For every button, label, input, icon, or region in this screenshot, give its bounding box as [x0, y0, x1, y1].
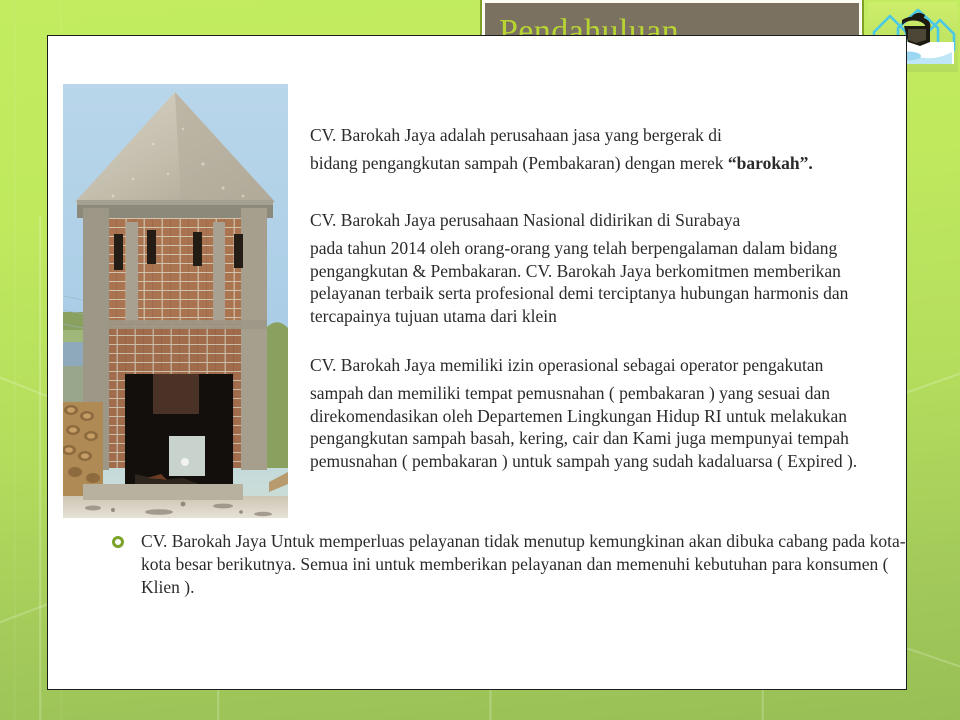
paragraph-1-line-1: CV. Barokah Jaya adalah perusahaan jasa … [310, 124, 910, 147]
paragraph-3-line-1: CV. Barokah Jaya memiliki izin operasion… [310, 354, 915, 377]
ring-bullet-icon [112, 536, 124, 548]
paragraph-2: CV. Barokah Jaya perusahaan Nasional did… [310, 209, 910, 328]
brand-name-emphasis: “barokah”. [728, 153, 813, 173]
paragraph-3: CV. Barokah Jaya memiliki izin operasion… [310, 354, 915, 473]
paragraph-2-body: pada tahun 2014 oleh orang-orang yang te… [310, 237, 910, 328]
list-item: CV. Barokah Jaya Untuk memperluas pelaya… [112, 530, 912, 598]
presentation-slide: Pendahuluan [0, 0, 960, 720]
paragraph-2-line-1: CV. Barokah Jaya perusahaan Nasional did… [310, 209, 910, 232]
incinerator-building-photo [63, 84, 288, 518]
list-item-label: CV. Barokah Jaya Untuk memperluas pelaya… [141, 530, 912, 598]
paragraph-1-line-2-text: bidang pengangkutan sampah (Pembakaran) … [310, 153, 728, 173]
paragraph-1-line-2: bidang pengangkutan sampah (Pembakaran) … [310, 152, 910, 175]
paragraph-3-body: sampah dan memiliki tempat pemusnahan ( … [310, 382, 915, 473]
paragraph-1: CV. Barokah Jaya adalah perusahaan jasa … [310, 124, 910, 175]
